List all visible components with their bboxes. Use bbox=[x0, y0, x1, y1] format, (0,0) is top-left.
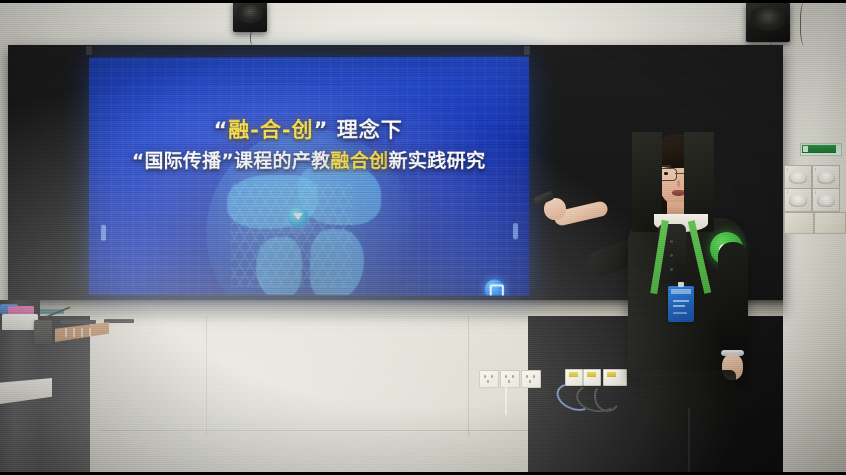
slide-title-highlight-2: 融合创 bbox=[330, 150, 388, 172]
speaker-cable bbox=[250, 31, 257, 45]
eye-left bbox=[664, 172, 668, 175]
id-card-line bbox=[673, 300, 689, 302]
slide-subtitle-part-a: “国际传播”课程的产教 bbox=[132, 150, 331, 172]
speaker-cone bbox=[237, 3, 263, 23]
light-switch-plate-1[interactable]: | bbox=[784, 165, 812, 189]
projection-screen[interactable]: “融-合-创” 理念下 “国际传播”课程的产教融合创新实践研究 bbox=[89, 56, 529, 295]
slide-title-tail: 理念下 bbox=[337, 118, 403, 142]
hex-network-overlay bbox=[231, 183, 352, 287]
id-card-clip bbox=[678, 282, 684, 287]
ceiling-speaker-center bbox=[233, 0, 267, 32]
switch-marking: | bbox=[787, 167, 788, 171]
board-clip bbox=[524, 46, 530, 55]
camera-clamp bbox=[34, 320, 52, 344]
socket-slot bbox=[491, 375, 493, 378]
switch-rocker[interactable] bbox=[789, 195, 807, 207]
rack-slot bbox=[65, 328, 67, 337]
id-card bbox=[668, 286, 694, 322]
socket-slot bbox=[484, 375, 486, 378]
id-card-header bbox=[671, 289, 691, 294]
upper-wall-strip bbox=[0, 0, 846, 46]
slide-title-line-1: “融-合-创” 理念下 bbox=[89, 117, 529, 144]
wall-seam bbox=[206, 316, 207, 436]
equipment-white-housing bbox=[2, 314, 38, 330]
slide-title-highlight-1: 融-合-创 bbox=[228, 118, 313, 142]
socket-slot bbox=[529, 380, 531, 383]
sign-pictogram bbox=[803, 146, 808, 152]
location-pin-icon bbox=[288, 207, 308, 227]
classroom-scene: “融-合-创” 理念下 “国际传播”课程的产教融合创新实践研究 | | | | bbox=[0, 0, 846, 475]
presenter: 09 bbox=[596, 132, 786, 475]
display-brand-label bbox=[352, 303, 432, 310]
board-tray-marker bbox=[60, 320, 96, 324]
rack-slot bbox=[73, 328, 75, 337]
wall-outlet-upper-right[interactable] bbox=[814, 212, 846, 234]
presenter-left-arm bbox=[718, 242, 748, 360]
socket-slot bbox=[505, 375, 507, 378]
slide-title-block: “融-合-创” 理念下 “国际传播”课程的产教融合创新实践研究 bbox=[89, 117, 529, 174]
speaker-cable bbox=[800, 2, 811, 46]
glasses-bridge bbox=[675, 173, 684, 174]
speaker-cone bbox=[751, 6, 784, 31]
socket-slot bbox=[526, 375, 528, 378]
nose bbox=[677, 180, 680, 187]
switch-marking: | bbox=[787, 190, 788, 194]
light-switch-plate-4[interactable]: | bbox=[812, 188, 840, 212]
slide-subtitle-part-b: 新实践研究 bbox=[388, 150, 485, 172]
light-switch-plate-2[interactable]: | bbox=[812, 165, 840, 189]
power-socket-1[interactable] bbox=[479, 370, 499, 388]
switch-rocker[interactable] bbox=[817, 172, 835, 184]
rack-slot bbox=[81, 328, 83, 337]
letterbox-top bbox=[0, 0, 846, 3]
screen-right-marker bbox=[513, 223, 518, 239]
wall-emergency-sign bbox=[800, 143, 842, 156]
shirt-button bbox=[670, 268, 673, 271]
socket-slot bbox=[533, 375, 535, 378]
socket-slot bbox=[487, 380, 489, 383]
quote-close: ” bbox=[314, 118, 329, 142]
board-clip bbox=[86, 46, 92, 55]
id-card-line bbox=[673, 312, 687, 314]
ceiling-speaker-right bbox=[746, 2, 790, 42]
switch-rocker[interactable] bbox=[817, 195, 835, 207]
light-switch-plate-3[interactable]: | bbox=[784, 188, 812, 212]
switch-rocker[interactable] bbox=[789, 172, 807, 184]
screen-left-marker bbox=[101, 225, 106, 241]
wall-outlet-upper-left[interactable] bbox=[784, 212, 814, 234]
quote-open: “ bbox=[214, 118, 229, 142]
shirt-button bbox=[670, 240, 673, 243]
id-card-line bbox=[673, 305, 685, 307]
switch-marking: | bbox=[815, 167, 816, 171]
trouser-seam bbox=[688, 408, 690, 475]
port-keystone bbox=[587, 372, 596, 377]
port-keystone bbox=[569, 372, 578, 377]
certificate-badge-icon bbox=[485, 279, 505, 295]
socket-slot bbox=[508, 380, 510, 383]
power-socket-3[interactable] bbox=[521, 370, 541, 388]
wall-seam bbox=[468, 316, 469, 436]
switch-marking: | bbox=[815, 190, 816, 194]
socket-slot bbox=[512, 375, 514, 378]
slide-title-line-2: “国际传播”课程的产教融合创新实践研究 bbox=[89, 149, 529, 174]
rack-slot bbox=[89, 328, 91, 337]
power-socket-2[interactable] bbox=[500, 370, 520, 388]
shirt-button bbox=[670, 254, 673, 257]
socket-cable bbox=[505, 385, 507, 415]
